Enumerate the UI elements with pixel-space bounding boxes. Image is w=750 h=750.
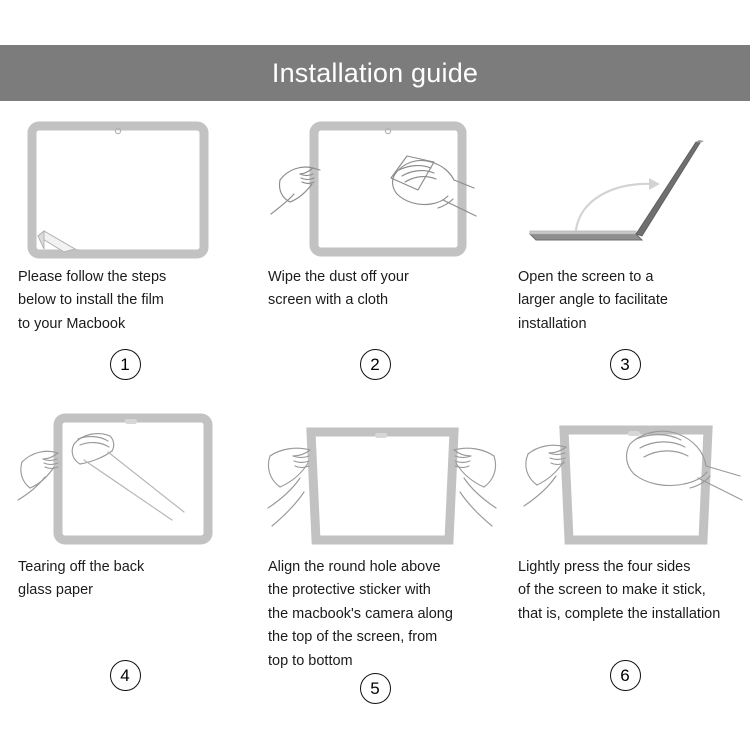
step-caption-6: Lightly press the four sides of the scre… (518, 556, 720, 626)
step-caption-3: Open the screen to a larger angle to fac… (518, 266, 668, 336)
step-card-3: Open the screen to a larger angle to fac… (500, 118, 750, 408)
steps-grid: Please follow the steps below to install… (0, 118, 750, 713)
step-card-1: Please follow the steps below to install… (0, 118, 250, 408)
step-badge-wrap-6: 6 (518, 660, 732, 713)
step-card-6: Lightly press the four sides of the scre… (500, 408, 750, 713)
step-card-4: Tearing off the back glass paper 4 (0, 408, 250, 713)
step-card-5: Align the round hole above the protectiv… (250, 408, 500, 713)
step-caption-1: Please follow the steps below to install… (18, 266, 166, 336)
step-number-badge-4: 4 (110, 660, 141, 691)
step-number-badge-6: 6 (610, 660, 641, 691)
illustration-align-film-two-hands (268, 408, 482, 548)
illustration-press-screen-sides (518, 408, 732, 548)
illustration-laptop-open-angle (518, 118, 732, 258)
step-caption-4: Tearing off the back glass paper (18, 556, 144, 603)
step-badge-wrap-4: 4 (18, 660, 232, 713)
step-badge-wrap-5: 5 (268, 673, 482, 726)
illustration-tear-back-paper (18, 408, 232, 548)
step-number-badge-1: 1 (110, 349, 141, 380)
step-badge-wrap-1: 1 (18, 349, 232, 408)
steps-row-bottom: Tearing off the back glass paper 4 (0, 408, 750, 713)
step-number-badge-5: 5 (360, 673, 391, 704)
step-caption-5: Align the round hole above the protectiv… (268, 556, 453, 673)
header-banner: Installation guide (0, 45, 750, 101)
page-title: Installation guide (272, 58, 478, 89)
step-number-badge-3: 3 (610, 349, 641, 380)
illustration-tablet-peeling-film (18, 118, 232, 258)
step-card-2: Wipe the dust off your screen with a clo… (250, 118, 500, 408)
steps-row-top: Please follow the steps below to install… (0, 118, 750, 408)
step-badge-wrap-2: 2 (268, 349, 482, 408)
step-number-badge-2: 2 (360, 349, 391, 380)
illustration-wipe-screen-cloth (268, 118, 482, 258)
step-badge-wrap-3: 3 (518, 349, 732, 408)
step-caption-2: Wipe the dust off your screen with a clo… (268, 266, 409, 313)
